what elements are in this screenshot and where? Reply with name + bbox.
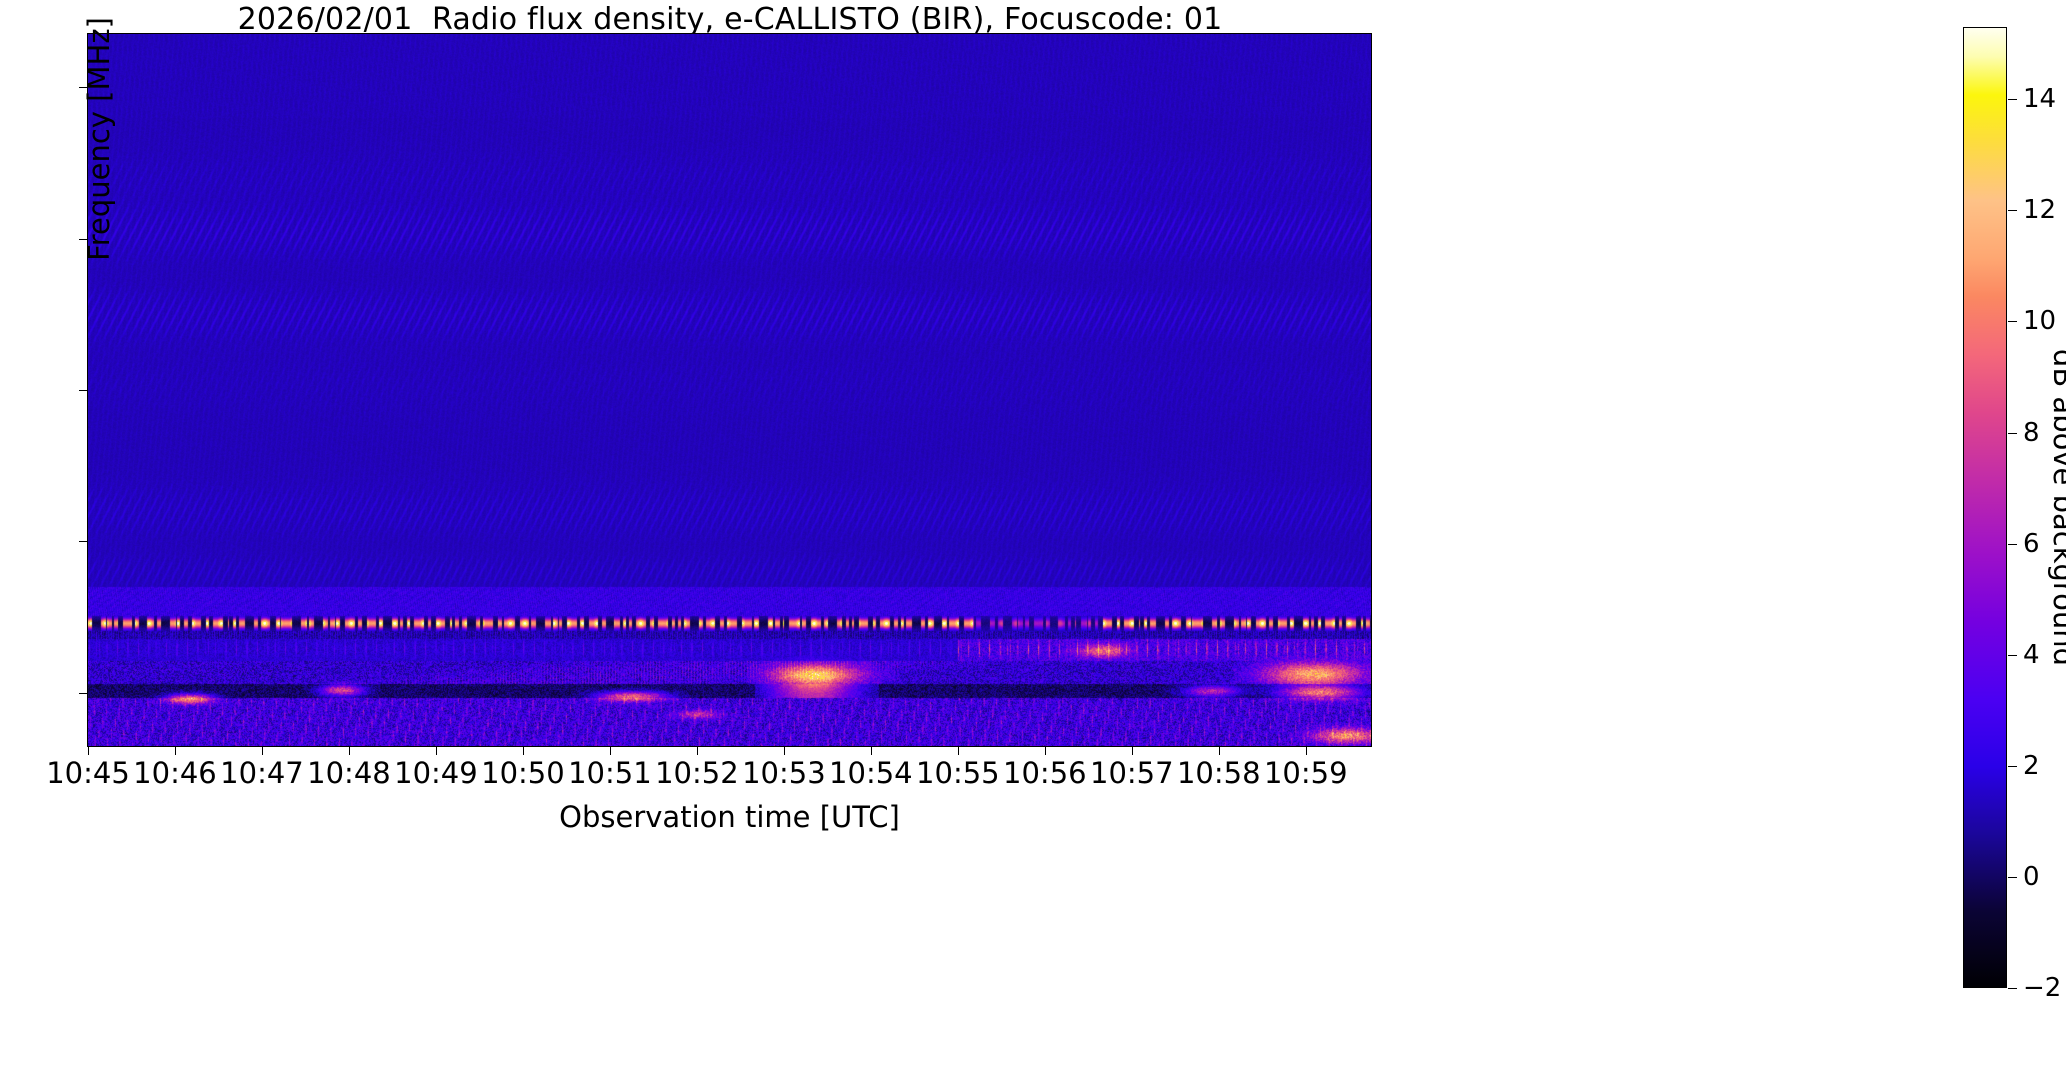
colorbar-label: dB above background [2047,27,2066,988]
x-tick-label: 10:49 [394,756,478,790]
colorbar-tick-label: 8 [2023,418,2040,448]
x-tick-mark [958,746,959,755]
x-tick-label: 10:53 [742,756,826,790]
x-tick-label: 10:47 [220,756,304,790]
x-tick-mark [175,746,176,755]
x-axis-label: Observation time [UTC] [88,800,1371,834]
colorbar-tick-label: 6 [2023,529,2040,559]
colorbar-tick-label: 0 [2023,862,2040,892]
spectrogram-axes: Frequency [MHz] Observation time [UTC] 1… [87,33,1372,747]
colorbar-tick-mark [2008,433,2017,434]
x-tick-mark [436,746,437,755]
y-tick-mark [79,87,88,88]
colorbar-tick-mark [2008,210,2017,211]
x-tick-label: 10:59 [1264,756,1348,790]
x-tick-mark [523,746,524,755]
y-tick-mark [79,239,88,240]
colorbar-tick-mark [2008,321,2017,322]
colorbar-tick-mark [2008,544,2017,545]
x-tick-label: 10:58 [1177,756,1261,790]
x-tick-label: 10:52 [655,756,739,790]
x-tick-label: 10:56 [1003,756,1087,790]
y-axis-label: Frequency [MHz] [82,0,116,289]
x-tick-label: 10:54 [829,756,913,790]
colorbar-tick-mark [2008,655,2017,656]
x-tick-label: 10:50 [481,756,565,790]
colorbar: −202468101214 dB above background [1963,27,2007,988]
x-tick-mark [349,746,350,755]
page-title: 2026/02/01 Radio flux density, e-CALLIST… [90,2,1370,37]
x-tick-mark [1306,746,1307,755]
x-tick-mark [1132,746,1133,755]
colorbar-tick-label: 2 [2023,751,2040,781]
x-tick-label: 10:45 [46,756,130,790]
colorbar-tick-mark [2008,988,2017,989]
y-tick-mark [79,541,88,542]
x-tick-label: 10:55 [916,756,1000,790]
colorbar-tick-mark [2008,877,2017,878]
y-tick-mark [79,390,88,391]
y-tick-mark [79,693,88,694]
colorbar-tick-mark [2008,766,2017,767]
x-tick-mark [1045,746,1046,755]
x-tick-mark [784,746,785,755]
x-tick-label: 10:51 [568,756,652,790]
x-tick-mark [697,746,698,755]
x-tick-mark [1219,746,1220,755]
x-tick-label: 10:48 [307,756,391,790]
x-tick-mark [871,746,872,755]
colorbar-tick-label: 4 [2023,640,2040,670]
x-tick-mark [610,746,611,755]
x-tick-label: 10:46 [133,756,217,790]
x-tick-mark [88,746,89,755]
colorbar-tick-mark [2008,99,2017,100]
x-tick-mark [262,746,263,755]
x-tick-label: 10:57 [1090,756,1174,790]
spectrogram-image [88,34,1371,746]
colorbar-gradient [1963,27,2007,988]
